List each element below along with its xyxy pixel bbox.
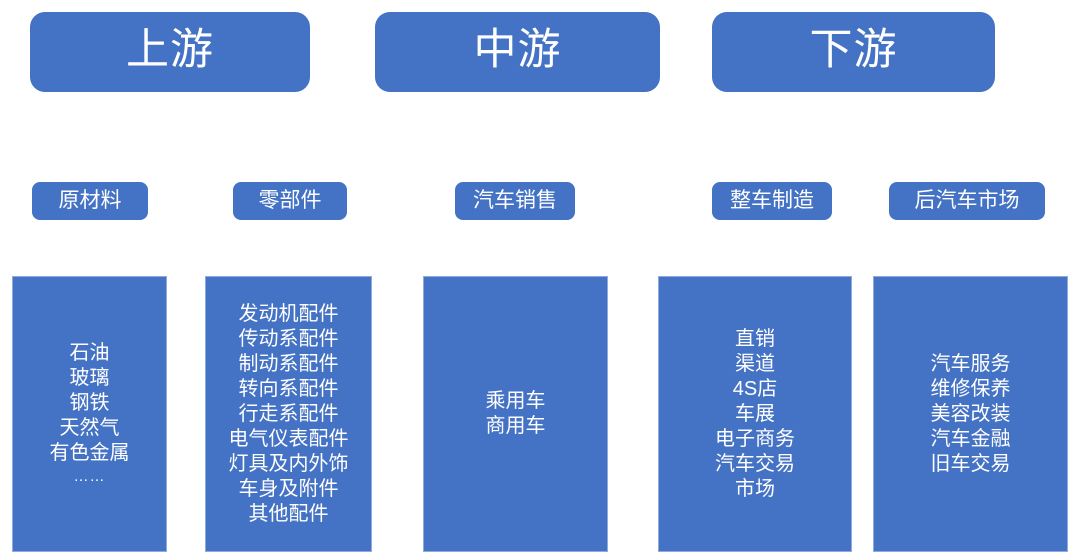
category-pill-vehicle-manufacturing[interactable]: 整车制造 bbox=[712, 182, 832, 220]
panel-item: 汽车服务 bbox=[931, 352, 1011, 377]
value-chain-diagram: 上游 中游 下游 原材料 零部件 汽车销售 整车制造 后汽车市场 石油 玻璃 钢… bbox=[0, 0, 1080, 552]
category-pill-aftermarket[interactable]: 后汽车市场 bbox=[889, 182, 1045, 220]
stage-button-downstream[interactable]: 下游 bbox=[712, 12, 995, 92]
panel-item-ellipsis: …… bbox=[74, 466, 106, 488]
panel-item: 行走系配件 bbox=[239, 402, 339, 427]
panel-aftermarket[interactable]: 汽车服务 维修保养 美容改装 汽车金融 旧车交易 bbox=[873, 276, 1068, 552]
panel-item: 车展 bbox=[735, 402, 775, 427]
panel-item: 有色金属 bbox=[50, 441, 130, 466]
panel-item: 钢铁 bbox=[70, 391, 110, 416]
panel-item: 电气仪表配件 bbox=[229, 427, 349, 452]
stage-button-label: 上游 bbox=[126, 29, 214, 75]
category-pill-vehicle-sales[interactable]: 汽车销售 bbox=[455, 182, 575, 220]
panel-item: 电子商务 bbox=[715, 427, 795, 452]
panel-item: 石油 bbox=[70, 341, 110, 366]
panel-item: 维修保养 bbox=[931, 377, 1011, 402]
panel-item: 美容改装 bbox=[931, 402, 1011, 427]
panel-item: 玻璃 bbox=[70, 366, 110, 391]
panel-item: 天然气 bbox=[60, 416, 120, 441]
category-pill-label: 原材料 bbox=[59, 190, 122, 213]
category-pill-label: 整车制造 bbox=[730, 190, 814, 213]
panel-item: 传动系配件 bbox=[239, 327, 339, 352]
stage-button-label: 下游 bbox=[810, 29, 898, 75]
panel-item: 汽车金融 bbox=[931, 427, 1011, 452]
panel-item: 旧车交易 bbox=[931, 452, 1011, 477]
stage-button-label: 中游 bbox=[474, 29, 562, 75]
panel-item: 制动系配件 bbox=[239, 352, 339, 377]
category-pill-components[interactable]: 零部件 bbox=[233, 182, 347, 220]
panel-item: 车身及附件 bbox=[239, 477, 339, 502]
panel-vehicle-sales[interactable]: 乘用车 商用车 bbox=[423, 276, 608, 552]
panel-vehicle-manufacturing[interactable]: 直销 渠道 4S店 车展 电子商务 汽车交易 市场 bbox=[658, 276, 852, 552]
category-pill-label: 汽车销售 bbox=[473, 190, 557, 213]
panel-item: 转向系配件 bbox=[239, 377, 339, 402]
panel-components[interactable]: 发动机配件 传动系配件 制动系配件 转向系配件 行走系配件 电气仪表配件 灯具及… bbox=[205, 276, 372, 552]
stage-button-midstream[interactable]: 中游 bbox=[375, 12, 660, 92]
panel-item: 灯具及内外饰 bbox=[229, 452, 349, 477]
category-pill-raw-materials[interactable]: 原材料 bbox=[32, 182, 148, 220]
panel-item: 其他配件 bbox=[249, 502, 329, 527]
panel-item: 4S店 bbox=[733, 377, 777, 402]
panel-item: 直销 bbox=[735, 327, 775, 352]
panel-item: 市场 bbox=[735, 477, 775, 502]
panel-raw-materials[interactable]: 石油 玻璃 钢铁 天然气 有色金属 …… bbox=[12, 276, 167, 552]
category-pill-label: 零部件 bbox=[259, 190, 322, 213]
panel-item: 渠道 bbox=[735, 352, 775, 377]
panel-item: 乘用车 bbox=[486, 389, 546, 414]
panel-item: 商用车 bbox=[486, 414, 546, 439]
category-pill-label: 后汽车市场 bbox=[915, 190, 1020, 213]
panel-item: 发动机配件 bbox=[239, 302, 339, 327]
stage-button-upstream[interactable]: 上游 bbox=[30, 12, 310, 92]
panel-item: 汽车交易 bbox=[715, 452, 795, 477]
